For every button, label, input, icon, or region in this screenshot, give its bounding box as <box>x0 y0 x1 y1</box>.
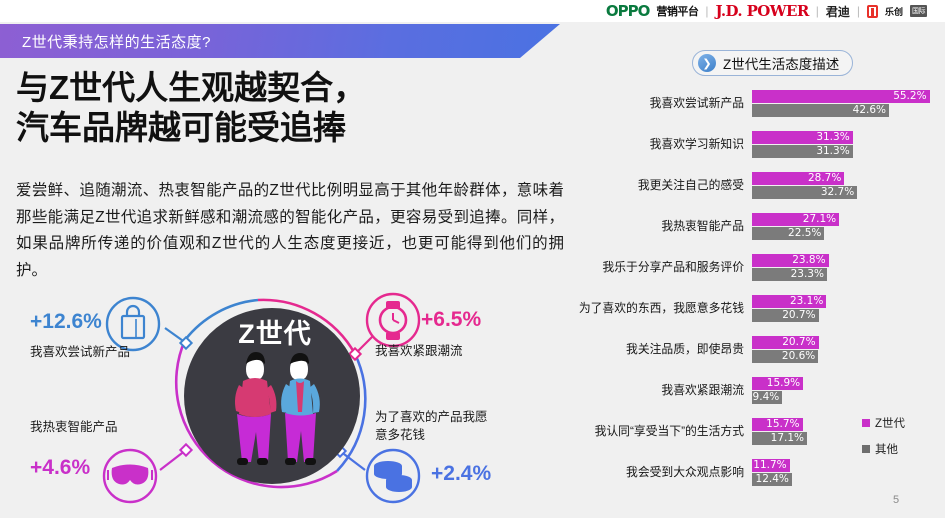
chart-bar-value: 23.3% <box>752 268 827 281</box>
chart-row-bars: 11.7%12.4% <box>752 459 945 487</box>
chart-bar-genz: 11.7% <box>752 459 945 472</box>
logo-divider-2: | <box>857 4 860 18</box>
lechuang-chip-label: 国际 <box>910 5 927 17</box>
chart-bar-other: 20.7% <box>752 309 945 322</box>
chart-row: 我关注品质，即使昂贵20.7%20.6% <box>566 334 945 375</box>
chart-row: 我喜欢紧跟潮流15.9%9.4% <box>566 375 945 416</box>
logo-divider-1: | <box>705 4 708 18</box>
chart-bar-genz: 15.9% <box>752 377 945 390</box>
chart-row-bars: 31.3%31.3% <box>752 131 945 159</box>
chart-bar-value: 42.6% <box>752 104 889 117</box>
stat-caption-top-left: 我喜欢尝试新产品 <box>30 344 130 361</box>
chart-row-bars: 27.1%22.5% <box>752 213 945 241</box>
chart-title: Z世代生活态度描述 <box>723 53 839 73</box>
chart-row: 我更关注自己的感受28.7%32.7% <box>566 170 945 211</box>
infographic-center-label: Z世代 <box>205 312 345 351</box>
stat-caption-bottom-left: 我热衷智能产品 <box>30 419 118 436</box>
chart-row-bars: 23.1%20.7% <box>752 295 945 323</box>
headline-line-1: 与Z世代人生观越契合， <box>16 68 536 108</box>
chart-row-bars: 15.9%9.4% <box>752 377 945 405</box>
chart-row-label: 我喜欢学习新知识 <box>559 137 744 152</box>
chart-bar-genz: 31.3% <box>752 131 945 144</box>
chart-bar-value: 55.2% <box>752 90 930 103</box>
chart-bar-value: 23.8% <box>752 254 829 267</box>
chart-bar-value: 11.7% <box>752 459 790 472</box>
chevron-right-circle-icon: ❯ <box>698 54 716 72</box>
chart-bar-other: 22.5% <box>752 227 945 240</box>
coins-icon <box>367 450 419 502</box>
legend-item-other: 其他 <box>862 441 905 457</box>
chart-row-label: 我关注品质，即使昂贵 <box>559 342 744 357</box>
chart-bar-value: 31.3% <box>752 145 853 158</box>
jdpower-logo: J.D. POWER <box>716 2 809 20</box>
chart-row: 我喜欢学习新知识31.3%31.3% <box>566 129 945 170</box>
chart-bar-value: 20.7% <box>752 309 819 322</box>
page-title: 与Z世代人生观越契合， 汽车品牌越可能受追捧 <box>16 68 536 149</box>
marketing-platform-label: 营销平台 <box>656 3 698 19</box>
legend-item-genz: Z世代 <box>862 415 905 431</box>
headline-line-2: 汽车品牌越可能受追捧 <box>16 108 536 148</box>
lechuang-mark-icon <box>867 5 878 18</box>
vr-goggles-icon <box>104 450 156 502</box>
chart-bar-other: 20.6% <box>752 350 945 363</box>
chart-bar-other: 32.7% <box>752 186 945 199</box>
chart-row-label: 我喜欢紧跟潮流 <box>559 383 744 398</box>
chart-bar-other: 31.3% <box>752 145 945 158</box>
chart-bar-other: 23.3% <box>752 268 945 281</box>
legend-label-genz: Z世代 <box>875 415 905 431</box>
chart-bar-other: 9.4% <box>752 391 945 404</box>
chart-bar-value: 20.7% <box>752 336 819 349</box>
chart-bar-genz: 55.2% <box>752 90 945 103</box>
stat-value-top-left: +12.6% <box>30 310 102 334</box>
body-paragraph: 爱尝鲜、追随潮流、热衷智能产品的Z世代比例明显高于其他年龄群体，意味着那些能满足… <box>16 178 564 285</box>
stat-caption-top-right: 我喜欢紧跟潮流 <box>375 343 463 360</box>
chart-bar-other: 42.6% <box>752 104 945 117</box>
chart-bar-other: 17.1% <box>752 432 945 445</box>
chart-bar-value: 28.7% <box>752 172 844 185</box>
stat-value-bottom-left: +4.6% <box>30 456 90 480</box>
chart-bar-genz: 23.1% <box>752 295 945 308</box>
chart-row-label: 我乐于分享产品和服务评价 <box>559 260 744 275</box>
legend-swatch-genz <box>862 419 870 427</box>
chart-bar-value: 9.4% <box>752 391 782 404</box>
stat-value-bottom-right: +2.4% <box>431 462 491 486</box>
chart-row-bars: 28.7%32.7% <box>752 172 945 200</box>
chart-bar-genz: 15.7% <box>752 418 945 431</box>
legend-swatch-other <box>862 445 870 453</box>
chart-row: 我热衷智能产品27.1%22.5% <box>566 211 945 252</box>
watch-icon <box>367 294 419 346</box>
oppo-logo: OPPO <box>606 2 650 20</box>
chart-bar-value: 23.1% <box>752 295 826 308</box>
logo-divider-jundi: | <box>816 4 819 18</box>
chart-bar-value: 31.3% <box>752 131 853 144</box>
chart-row-bars: 23.8%23.3% <box>752 254 945 282</box>
page-number: 5 <box>893 494 899 506</box>
generation-z-infographic: Z世代 +12.6% 我喜欢尝试新产品 +6.5% 我喜欢紧跟潮流 我热衷智能产… <box>0 288 560 518</box>
lechuang-logo: 乐创 <box>885 5 903 18</box>
section-banner: Z世代秉持怎样的生活态度? <box>0 24 560 58</box>
chart-row: 我乐于分享产品和服务评价23.8%23.3% <box>566 252 945 293</box>
chart-bar-value: 15.7% <box>752 418 803 431</box>
chart-bar-value: 15.9% <box>752 377 803 390</box>
chart-row-label: 我喜欢尝试新产品 <box>559 96 744 111</box>
stat-caption-bottom-right-line-2: 意多花钱 <box>375 427 425 444</box>
chart-title-pill: ❯ Z世代生活态度描述 <box>692 50 853 76</box>
chart-bar-value: 17.1% <box>752 432 807 445</box>
chart-row-label: 我热衷智能产品 <box>559 219 744 234</box>
stat-value-top-right: +6.5% <box>421 308 481 332</box>
chart-row-label: 我更关注自己的感受 <box>559 178 744 193</box>
chart-row-label: 我会受到大众观点影响 <box>559 465 744 480</box>
chart-row-bars: 15.7%17.1% <box>752 418 945 446</box>
chart-bar-genz: 20.7% <box>752 336 945 349</box>
chart-row: 我喜欢尝试新产品55.2%42.6% <box>566 88 945 129</box>
chart-bar-value: 20.6% <box>752 350 818 363</box>
chart-row: 为了喜欢的东西，我愿意多花钱23.1%20.7% <box>566 293 945 334</box>
chart-row-bars: 55.2%42.6% <box>752 90 945 118</box>
chart-row-bars: 20.7%20.6% <box>752 336 945 364</box>
jundi-logo: 君迪 <box>826 3 850 20</box>
chart-bar-value: 22.5% <box>752 227 824 240</box>
brand-logo-bar: OPPO 营销平台 | J.D. POWER | 君迪 | 乐创 国际 <box>0 0 945 22</box>
chart-bar-value: 32.7% <box>752 186 857 199</box>
chart-bar-genz: 28.7% <box>752 172 945 185</box>
shopping-bag-icon <box>107 298 159 350</box>
chart-row-label: 我认同“享受当下”的生活方式 <box>559 424 744 439</box>
chart-bar-genz: 23.8% <box>752 254 945 267</box>
banner-title: Z世代秉持怎样的生活态度? <box>0 31 211 52</box>
chart-bar-value: 27.1% <box>752 213 839 226</box>
chart-legend: Z世代 其他 <box>862 415 905 467</box>
chart-bar-value: 12.4% <box>752 473 792 486</box>
stat-caption-bottom-right-line-1: 为了喜欢的产品我愿 <box>375 409 488 426</box>
legend-label-other: 其他 <box>875 441 898 457</box>
chart-bar-other: 12.4% <box>752 473 945 486</box>
chart-row-label: 为了喜欢的东西，我愿意多花钱 <box>559 301 744 316</box>
chart-bar-genz: 27.1% <box>752 213 945 226</box>
